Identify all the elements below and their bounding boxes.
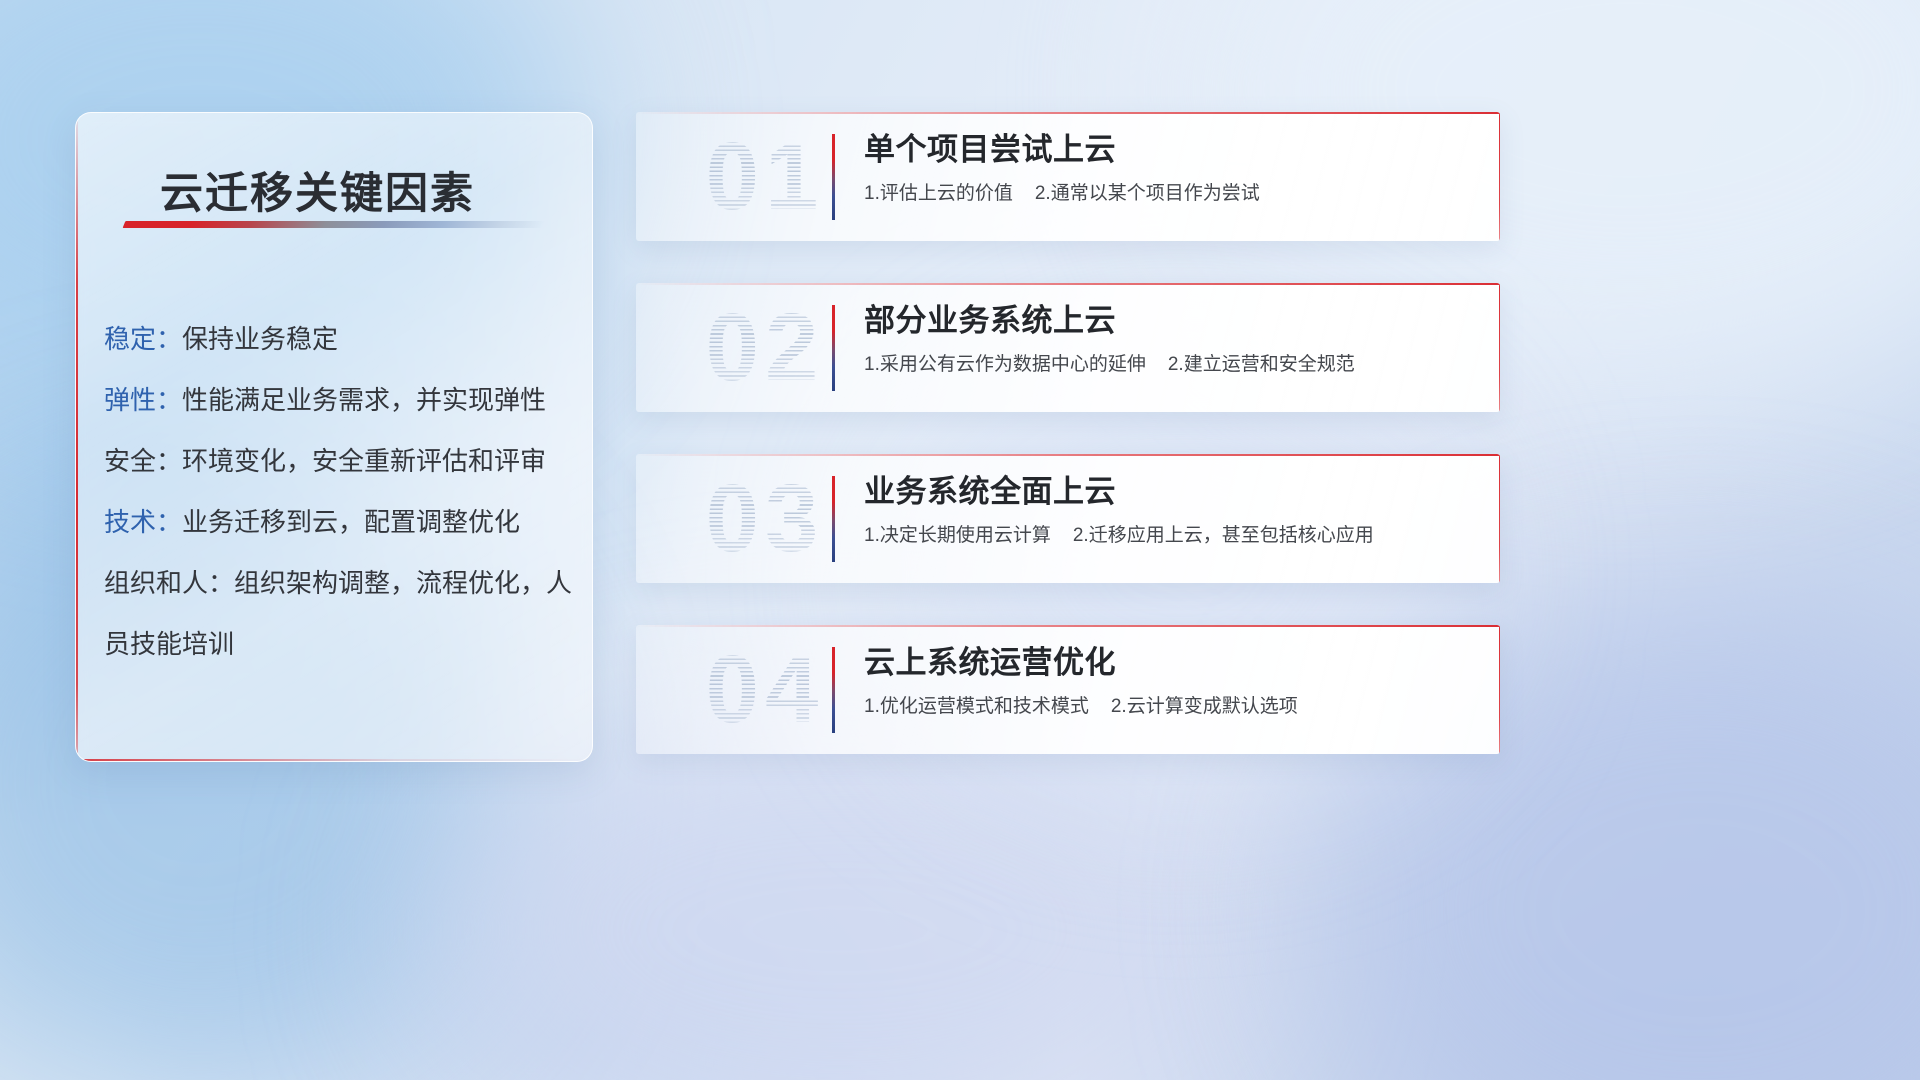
stage-divider-line (832, 647, 835, 733)
key-factor-label: 技术： (104, 507, 182, 537)
stage-subtitle: 1.采用公有云作为数据中心的延伸2.建立运营和安全规范 (864, 351, 1474, 379)
stage-number-text: 04 (706, 636, 825, 743)
stage-body: 业务系统全面上云1.决定长期使用云计算2.迁移应用上云，甚至包括核心应用 (864, 470, 1474, 550)
key-factor-label: 稳定： (104, 324, 182, 354)
stage-divider-line (832, 134, 835, 220)
slide-canvas: 云迁移关键因素 稳定：保持业务稳定弹性：性能满足业务需求，并实现弹性安全：环境变… (0, 0, 1920, 1080)
key-factor-row: 组织和人：组织架构调整，流程优化，人员技能培训 (104, 553, 574, 675)
stage-number-watermark: 04 (660, 629, 870, 751)
stage-subtitle: 1.优化运营模式和技术模式2.云计算变成默认选项 (864, 693, 1474, 721)
migration-stage-card[interactable]: 02部分业务系统上云1.采用公有云作为数据中心的延伸2.建立运营和安全规范 (636, 283, 1500, 412)
migration-stage-card[interactable]: 04云上系统运营优化1.优化运营模式和技术模式2.云计算变成默认选项 (636, 625, 1500, 754)
stage-point-2: 2.云计算变成默认选项 (1111, 696, 1298, 717)
stage-point-1: 1.评估上云的价值 (864, 183, 1013, 204)
stage-point-2: 2.通常以某个项目作为尝试 (1035, 183, 1260, 204)
stage-number-watermark: 02 (660, 287, 870, 409)
key-factors-panel: 云迁移关键因素 稳定：保持业务稳定弹性：性能满足业务需求，并实现弹性安全：环境变… (75, 112, 593, 762)
stage-point-1: 1.采用公有云作为数据中心的延伸 (864, 354, 1146, 375)
key-factor-text: 保持业务稳定 (182, 324, 338, 354)
stage-subtitle: 1.评估上云的价值2.通常以某个项目作为尝试 (864, 180, 1474, 208)
key-factor-label: 组织和人： (104, 568, 234, 598)
key-factor-label: 安全： (104, 446, 182, 476)
stage-number-text: 03 (706, 465, 825, 572)
stage-body: 云上系统运营优化1.优化运营模式和技术模式2.云计算变成默认选项 (864, 641, 1474, 721)
stage-number-text: 02 (706, 294, 825, 401)
stage-body: 部分业务系统上云1.采用公有云作为数据中心的延伸2.建立运营和安全规范 (864, 299, 1474, 379)
key-factor-row: 弹性：性能满足业务需求，并实现弹性 (104, 370, 574, 431)
stage-subtitle: 1.决定长期使用云计算2.迁移应用上云，甚至包括核心应用 (864, 522, 1474, 550)
stage-point-1: 1.决定长期使用云计算 (864, 525, 1051, 546)
stage-heading: 单个项目尝试上云 (864, 128, 1474, 172)
stage-point-2: 2.建立运营和安全规范 (1168, 354, 1355, 375)
stage-number-watermark: 03 (660, 458, 870, 580)
key-factor-text: 环境变化，安全重新评估和评审 (182, 446, 546, 476)
stage-divider-line (832, 305, 835, 391)
stage-heading: 部分业务系统上云 (864, 299, 1474, 343)
key-factor-row: 技术：业务迁移到云，配置调整优化 (104, 492, 574, 553)
key-factor-text: 业务迁移到云，配置调整优化 (182, 507, 520, 537)
migration-stage-card-list: 01单个项目尝试上云1.评估上云的价值2.通常以某个项目作为尝试02部分业务系统… (636, 112, 1500, 796)
key-factor-list: 稳定：保持业务稳定弹性：性能满足业务需求，并实现弹性安全：环境变化，安全重新评估… (104, 309, 574, 675)
panel-title: 云迁移关键因素 (160, 159, 475, 221)
stage-body: 单个项目尝试上云1.评估上云的价值2.通常以某个项目作为尝试 (864, 128, 1474, 208)
migration-stage-card[interactable]: 03业务系统全面上云1.决定长期使用云计算2.迁移应用上云，甚至包括核心应用 (636, 454, 1500, 583)
title-underline-rule (123, 221, 546, 228)
stage-number-watermark: 01 (660, 116, 870, 238)
stage-heading: 云上系统运营优化 (864, 641, 1474, 685)
stage-number-text: 01 (706, 123, 825, 230)
stage-point-1: 1.优化运营模式和技术模式 (864, 696, 1089, 717)
stage-point-2: 2.迁移应用上云，甚至包括核心应用 (1073, 525, 1374, 546)
key-factor-text: 性能满足业务需求，并实现弹性 (182, 385, 546, 415)
stage-heading: 业务系统全面上云 (864, 470, 1474, 514)
key-factor-label: 弹性： (104, 385, 182, 415)
migration-stage-card[interactable]: 01单个项目尝试上云1.评估上云的价值2.通常以某个项目作为尝试 (636, 112, 1500, 241)
stage-divider-line (832, 476, 835, 562)
key-factor-row: 安全：环境变化，安全重新评估和评审 (104, 431, 574, 492)
key-factor-row: 稳定：保持业务稳定 (104, 309, 574, 370)
